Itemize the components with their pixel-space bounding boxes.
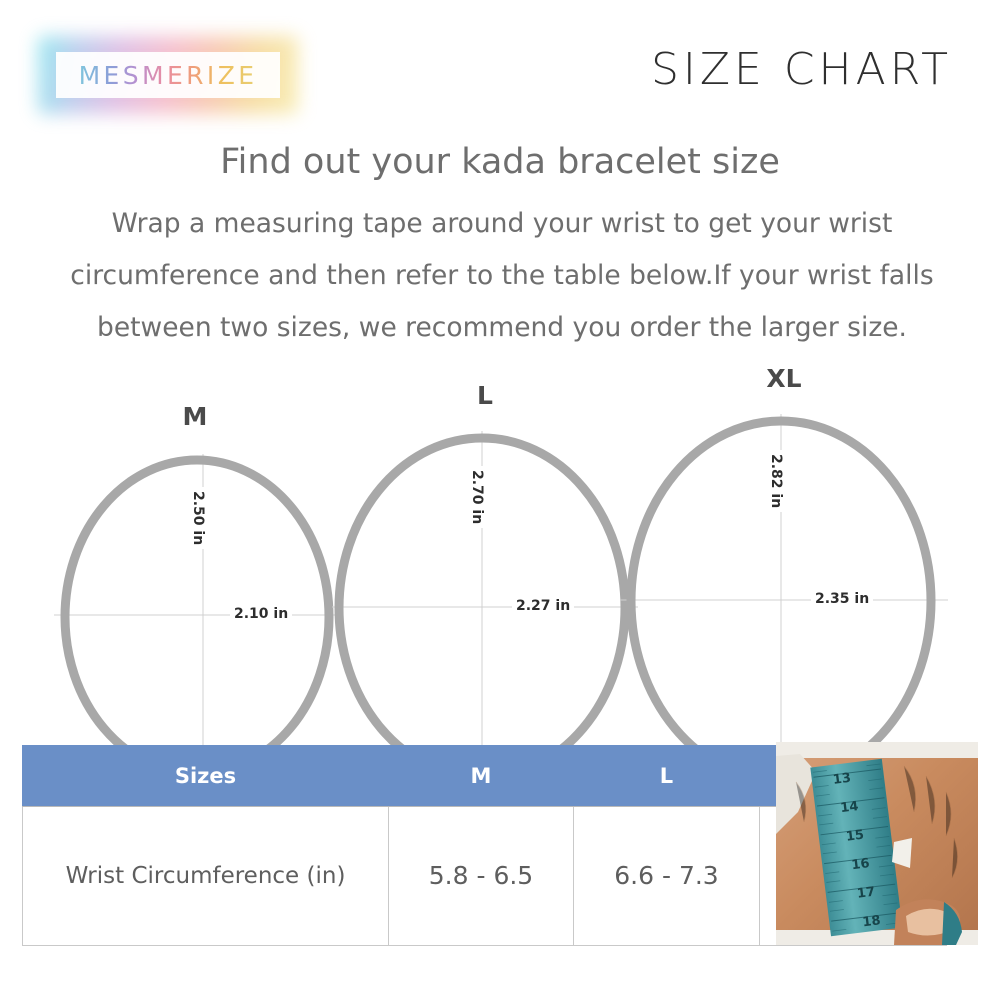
section-heading: Find out your kada bracelet size <box>0 142 1000 182</box>
svg-text:13: 13 <box>832 771 852 788</box>
oval-width-label-l: 2.27 in <box>512 598 574 614</box>
oval-width-label-m: 2.10 in <box>230 606 292 622</box>
page-title: SIZE CHART <box>651 44 952 95</box>
table-header-m: M <box>389 746 574 807</box>
oval-width-label-xl: 2.35 in <box>811 591 873 607</box>
oval-diagram-l: L 2.70 in 2.27 in <box>330 373 640 793</box>
svg-text:18: 18 <box>862 913 882 930</box>
brand-logo: MESMERIZE <box>48 46 288 104</box>
oval-diagram-m: M 2.50 in 2.10 in <box>50 392 340 792</box>
svg-text:16: 16 <box>851 856 871 873</box>
oval-shape-l <box>330 373 640 793</box>
cell-wrist-circumference-m: 5.8 - 6.5 <box>389 807 574 946</box>
wrist-photo-illustration: 13 14 15 16 17 18 <box>776 742 978 945</box>
logo-box: MESMERIZE <box>56 52 280 98</box>
oval-diagrams: M 2.50 in 2.10 in L 2.70 in 2.27 in XL 2… <box>0 340 1000 740</box>
oval-height-label-m: 2.50 in <box>190 487 206 549</box>
oval-shape-xl <box>618 358 950 798</box>
table-header-sizes: Sizes <box>23 746 389 807</box>
row-label-wrist-circumference: Wrist Circumference (in) <box>23 807 389 946</box>
intro-paragraph: Wrap a measuring tape around your wrist … <box>52 198 952 354</box>
wrist-measurement-photo: 13 14 15 16 17 18 <box>776 742 978 945</box>
svg-text:17: 17 <box>856 885 876 902</box>
oval-height-label-xl: 2.82 in <box>768 450 784 512</box>
oval-shape-m <box>50 392 340 792</box>
logo-text: MESMERIZE <box>79 61 258 90</box>
oval-diagram-xl: XL 2.82 in 2.35 in <box>618 358 950 798</box>
oval-height-label-l: 2.70 in <box>469 466 485 528</box>
cell-wrist-circumference-l: 6.6 - 7.3 <box>574 807 760 946</box>
svg-text:14: 14 <box>840 799 860 816</box>
table-header-l: L <box>574 746 760 807</box>
svg-text:15: 15 <box>845 828 865 845</box>
